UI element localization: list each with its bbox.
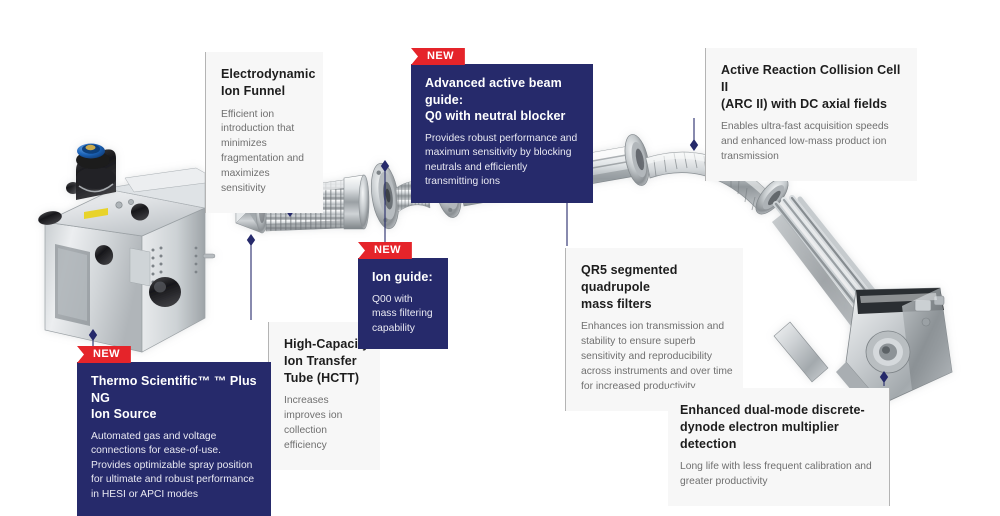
- callout-beam-guide-body: Provides robust performance and maximum …: [425, 132, 579, 190]
- callout-qr5-title: QR5 segmented quadrupole mass filters: [581, 262, 733, 312]
- callout-beam-guide-title: Advanced active beam guide: Q0 with neut…: [425, 75, 579, 125]
- callout-ion-guide-body: Q00 with mass filtering capability: [372, 293, 434, 337]
- new-badge-ion-source: NEW: [77, 346, 131, 363]
- callout-hctt-body: Increases improves ion collection effici…: [284, 394, 370, 454]
- callout-ion-guide: NEW Ion guide: Q00 with mass filtering c…: [358, 258, 448, 349]
- callout-ion-source-body: Automated gas and voltage connections fo…: [91, 430, 257, 503]
- diagram-canvas: Electrodynamic Ion Funnel Efficient ion …: [0, 0, 1000, 500]
- ion-source-housing: [37, 168, 215, 352]
- callout-beam-guide: NEW Advanced active beam guide: Q0 with …: [411, 64, 593, 203]
- callout-ion-source: NEW Thermo Scientific™ ™ Plus NG Ion Sou…: [77, 362, 271, 516]
- callout-detector-body: Long life with less frequent calibration…: [680, 460, 874, 490]
- callout-arc-ii-body: Enables ultra-fast acquisition speeds an…: [721, 120, 907, 165]
- callout-ion-funnel: Electrodynamic Ion Funnel Efficient ion …: [205, 52, 323, 213]
- callout-qr5-body: Enhances ion transmission and stability …: [581, 320, 733, 395]
- callout-ion-source-title: Thermo Scientific™ ™ Plus NG Ion Source: [91, 373, 257, 423]
- new-badge-ion-guide: NEW: [358, 242, 412, 259]
- callout-ion-funnel-body: Efficient ion introduction that minimize…: [221, 108, 313, 198]
- callout-detector: Enhanced dual-mode discrete- dynode elec…: [668, 388, 890, 506]
- new-badge-beam-guide: NEW: [411, 48, 465, 65]
- callout-detector-title: Enhanced dual-mode discrete- dynode elec…: [680, 402, 874, 452]
- callout-qr5: QR5 segmented quadrupole mass filters En…: [565, 248, 743, 411]
- hesi-probe: [76, 144, 116, 201]
- callout-arc-ii-title: Active Reaction Collision Cell II (ARC I…: [721, 62, 907, 112]
- callout-ion-funnel-title: Electrodynamic Ion Funnel: [221, 66, 313, 100]
- callout-arc-ii: Active Reaction Collision Cell II (ARC I…: [705, 48, 917, 181]
- callout-ion-guide-title: Ion guide:: [372, 269, 434, 286]
